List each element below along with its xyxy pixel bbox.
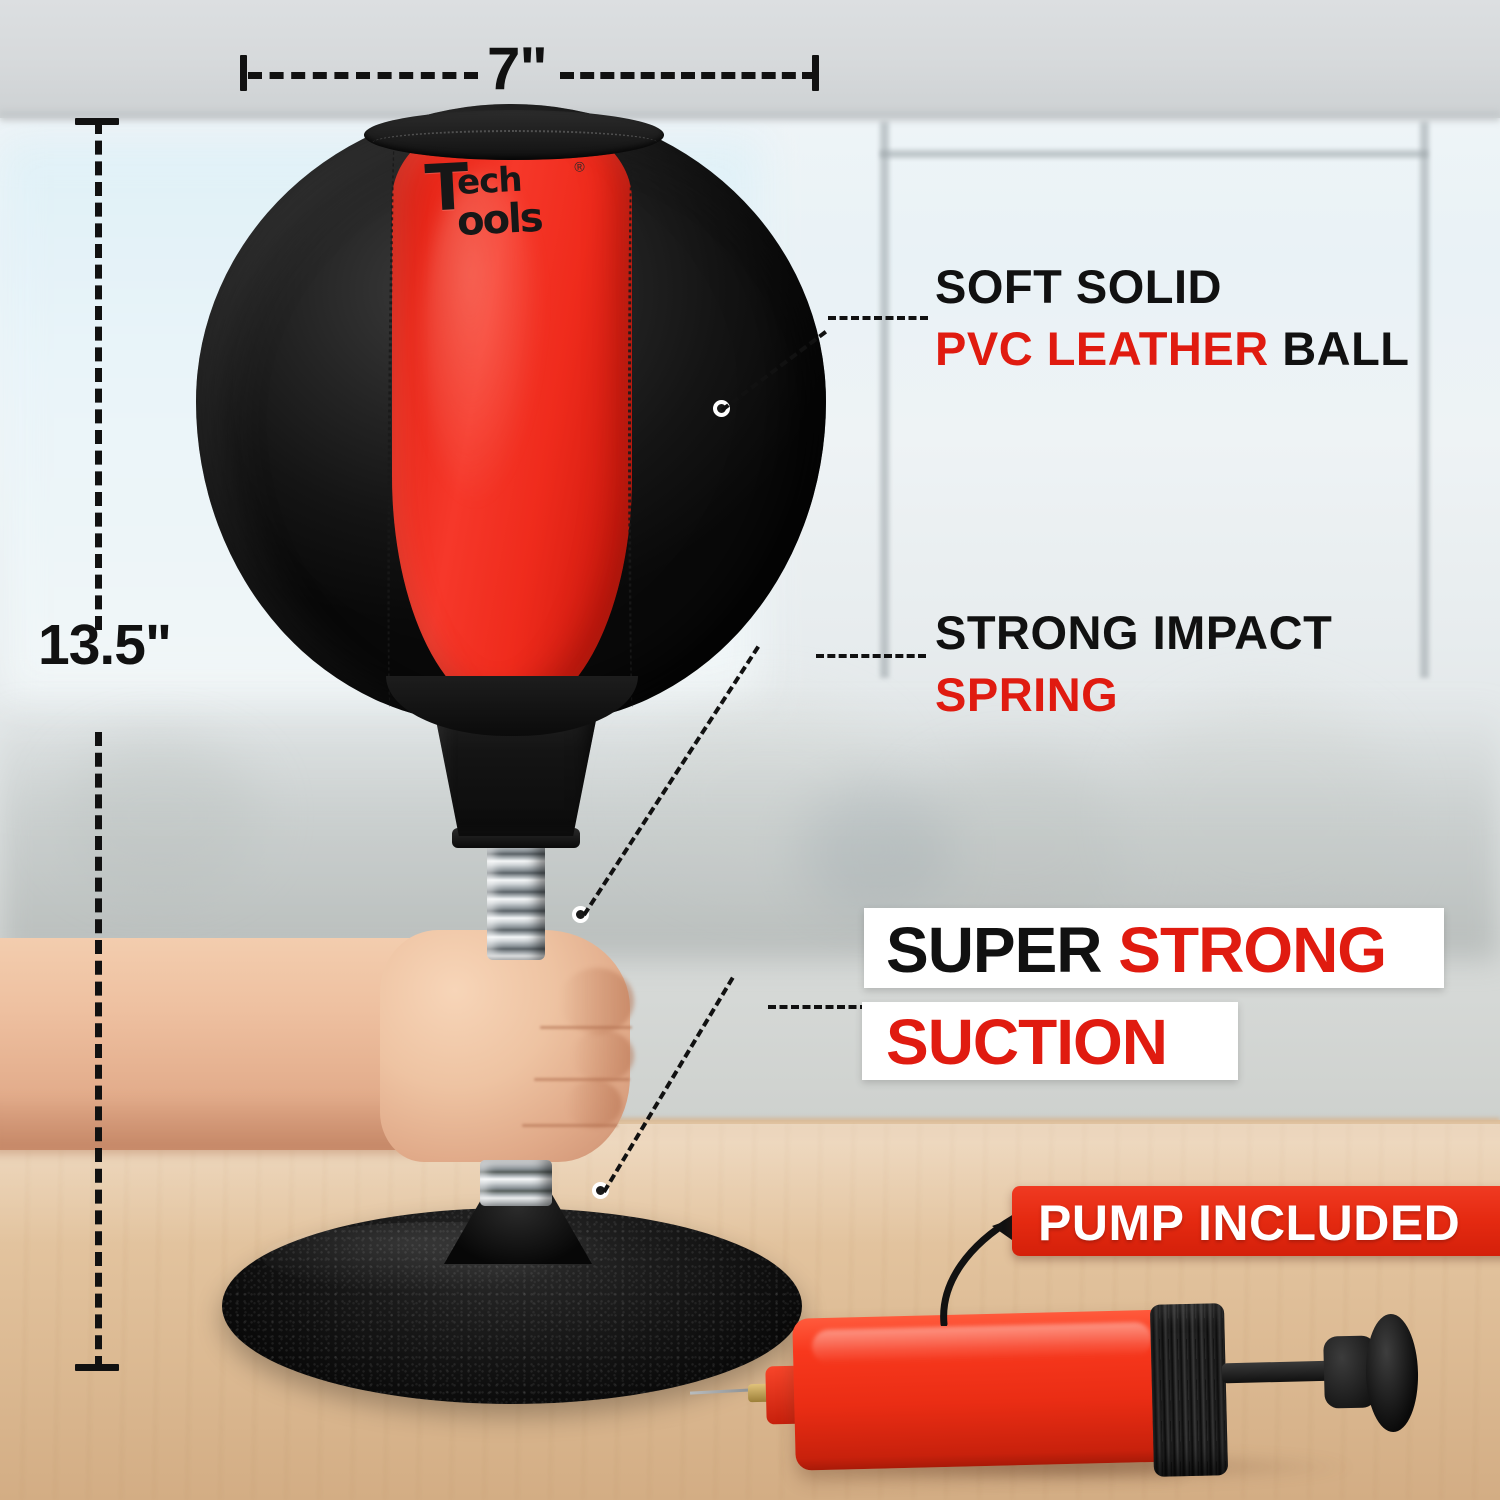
pump-included-label: PUMP INCLUDED bbox=[1038, 1194, 1460, 1252]
logo-word-tools: ools bbox=[456, 195, 543, 245]
pump-rod bbox=[1222, 1361, 1334, 1384]
punching-ball: T ech ools ® bbox=[196, 104, 826, 724]
knuckle-2 bbox=[572, 1030, 634, 1082]
logo-trademark-icon: ® bbox=[574, 158, 585, 175]
callout-spring-text: STRONG IMPACT SPRING bbox=[935, 608, 1332, 720]
callout-spring-line1: STRONG IMPACT bbox=[935, 608, 1332, 658]
dimension-line-vertical-top bbox=[95, 120, 102, 630]
finger-crease-1 bbox=[540, 1026, 632, 1029]
product-infographic: T ech ools ® 13.5" 7" SOFT SOLID PVC LEA… bbox=[0, 0, 1500, 1500]
dimension-line-horizontal-right bbox=[560, 72, 816, 79]
dimension-cap-top bbox=[75, 118, 119, 125]
callout-leader-ball-horizontal bbox=[828, 316, 928, 320]
dimension-cap-right bbox=[812, 55, 819, 91]
banner-line1-red: STRONG bbox=[1118, 914, 1386, 986]
knuckle-3 bbox=[566, 1080, 622, 1128]
banner-line-1: SUPER STRONG bbox=[886, 918, 1386, 982]
window-mullion-vertical-2 bbox=[1420, 118, 1429, 678]
spring-lower bbox=[480, 1160, 552, 1206]
dimension-height-label: 13.5" bbox=[38, 612, 171, 678]
window-mullion-horizontal bbox=[880, 150, 1428, 158]
banner-line1-black: SUPER bbox=[886, 914, 1118, 986]
spring-upper bbox=[487, 842, 545, 960]
ball-top-stitching bbox=[372, 130, 658, 156]
callout-leader-suction-horizontal bbox=[768, 1005, 868, 1009]
callout-leader-spring-horizontal bbox=[816, 654, 926, 658]
callout-ball-line2: PVC LEATHER BALL bbox=[935, 324, 1410, 374]
callout-ball-line2-black: BALL bbox=[1269, 322, 1410, 375]
dimension-cap-left bbox=[240, 55, 247, 91]
dimension-width-label: 7" bbox=[487, 34, 547, 103]
finger-crease-2 bbox=[534, 1078, 630, 1081]
ball-seam-right bbox=[628, 128, 637, 708]
dimension-line-horizontal-left bbox=[248, 72, 478, 79]
callout-ball-line2-red: PVC LEATHER bbox=[935, 322, 1269, 375]
callout-ball-line1: SOFT SOLID bbox=[935, 262, 1410, 312]
window-mullion-vertical-1 bbox=[880, 118, 889, 678]
dimension-line-vertical-bottom bbox=[95, 732, 102, 1370]
knuckle-1 bbox=[560, 968, 634, 1034]
finger-crease-3 bbox=[522, 1124, 618, 1127]
callout-spring-line2: SPRING bbox=[935, 670, 1332, 720]
banner-line-2: SUCTION bbox=[886, 1010, 1167, 1074]
background-ceiling bbox=[0, 0, 1500, 118]
callout-ball-text: SOFT SOLID PVC LEATHER BALL bbox=[935, 262, 1410, 374]
pump-collar bbox=[1150, 1303, 1228, 1477]
dimension-cap-bottom bbox=[75, 1364, 119, 1371]
brand-logo: T ech ools ® bbox=[424, 151, 608, 246]
